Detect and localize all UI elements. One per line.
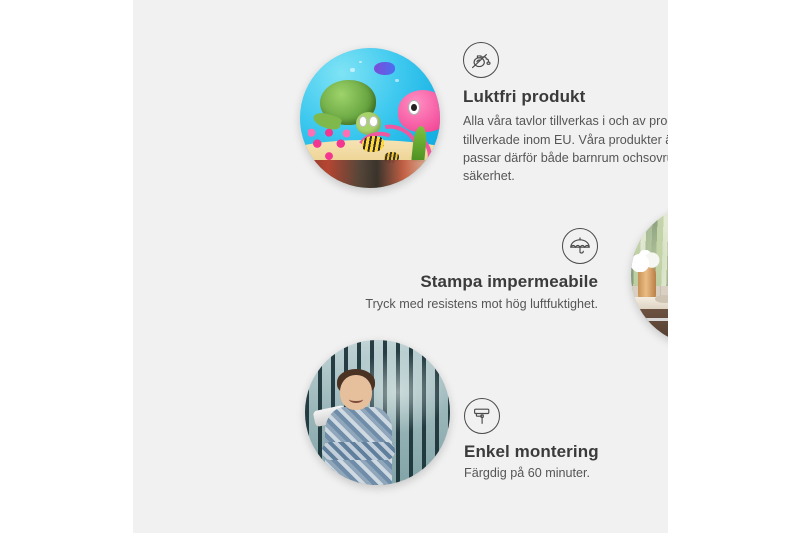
feature-title: Luktfri produkt [463, 86, 668, 107]
no-fragrance-icon [463, 42, 499, 78]
umbrella-icon [562, 228, 598, 264]
crossed-arms [322, 442, 395, 461]
feature-body: Alla våra tavlor tillverkas i och av pro… [463, 112, 668, 185]
feature-body: Färgdig på 60 minuter. [464, 465, 668, 483]
bubble [395, 79, 399, 83]
bubble [359, 61, 362, 64]
feature-body: Tryck med resistens mot hög luftfuktighe… [313, 296, 598, 314]
feature-block-waterproof: Stampa impermeabile Tryck med resistens … [313, 228, 598, 314]
pink-coral [308, 121, 350, 160]
feature-block-easy-install: Enkel montering Färgdig på 60 minuter. [464, 398, 668, 483]
room-strip [300, 160, 440, 188]
paint-roller-icon [464, 398, 500, 434]
painter-scene-art [305, 340, 450, 485]
striped-fish [362, 136, 384, 151]
face [340, 375, 372, 410]
purple-fish [374, 62, 395, 75]
icon-wrap [313, 228, 598, 264]
white-flowers [631, 250, 663, 272]
feature-block-odourless: Luktfri produkt Alla våra tavlor tillver… [463, 42, 668, 185]
underwater-scene-art [300, 48, 440, 188]
bathroom-scene-art [631, 205, 668, 345]
feature-image-easy-install [305, 340, 450, 485]
wooden-vanity-cabinet [637, 309, 668, 345]
soap-dish [655, 295, 668, 303]
smile [349, 395, 364, 403]
feature-title: Stampa impermeabile [313, 271, 598, 292]
content-canvas: Luktfri produkt Alla våra tavlor tillver… [133, 0, 668, 533]
feature-image-odourless [300, 48, 440, 188]
feature-title: Enkel montering [464, 441, 668, 462]
bubble [350, 68, 354, 72]
feature-image-waterproof [631, 205, 668, 345]
product-feature-panel: Luktfri produkt Alla våra tavlor tillver… [0, 0, 800, 533]
